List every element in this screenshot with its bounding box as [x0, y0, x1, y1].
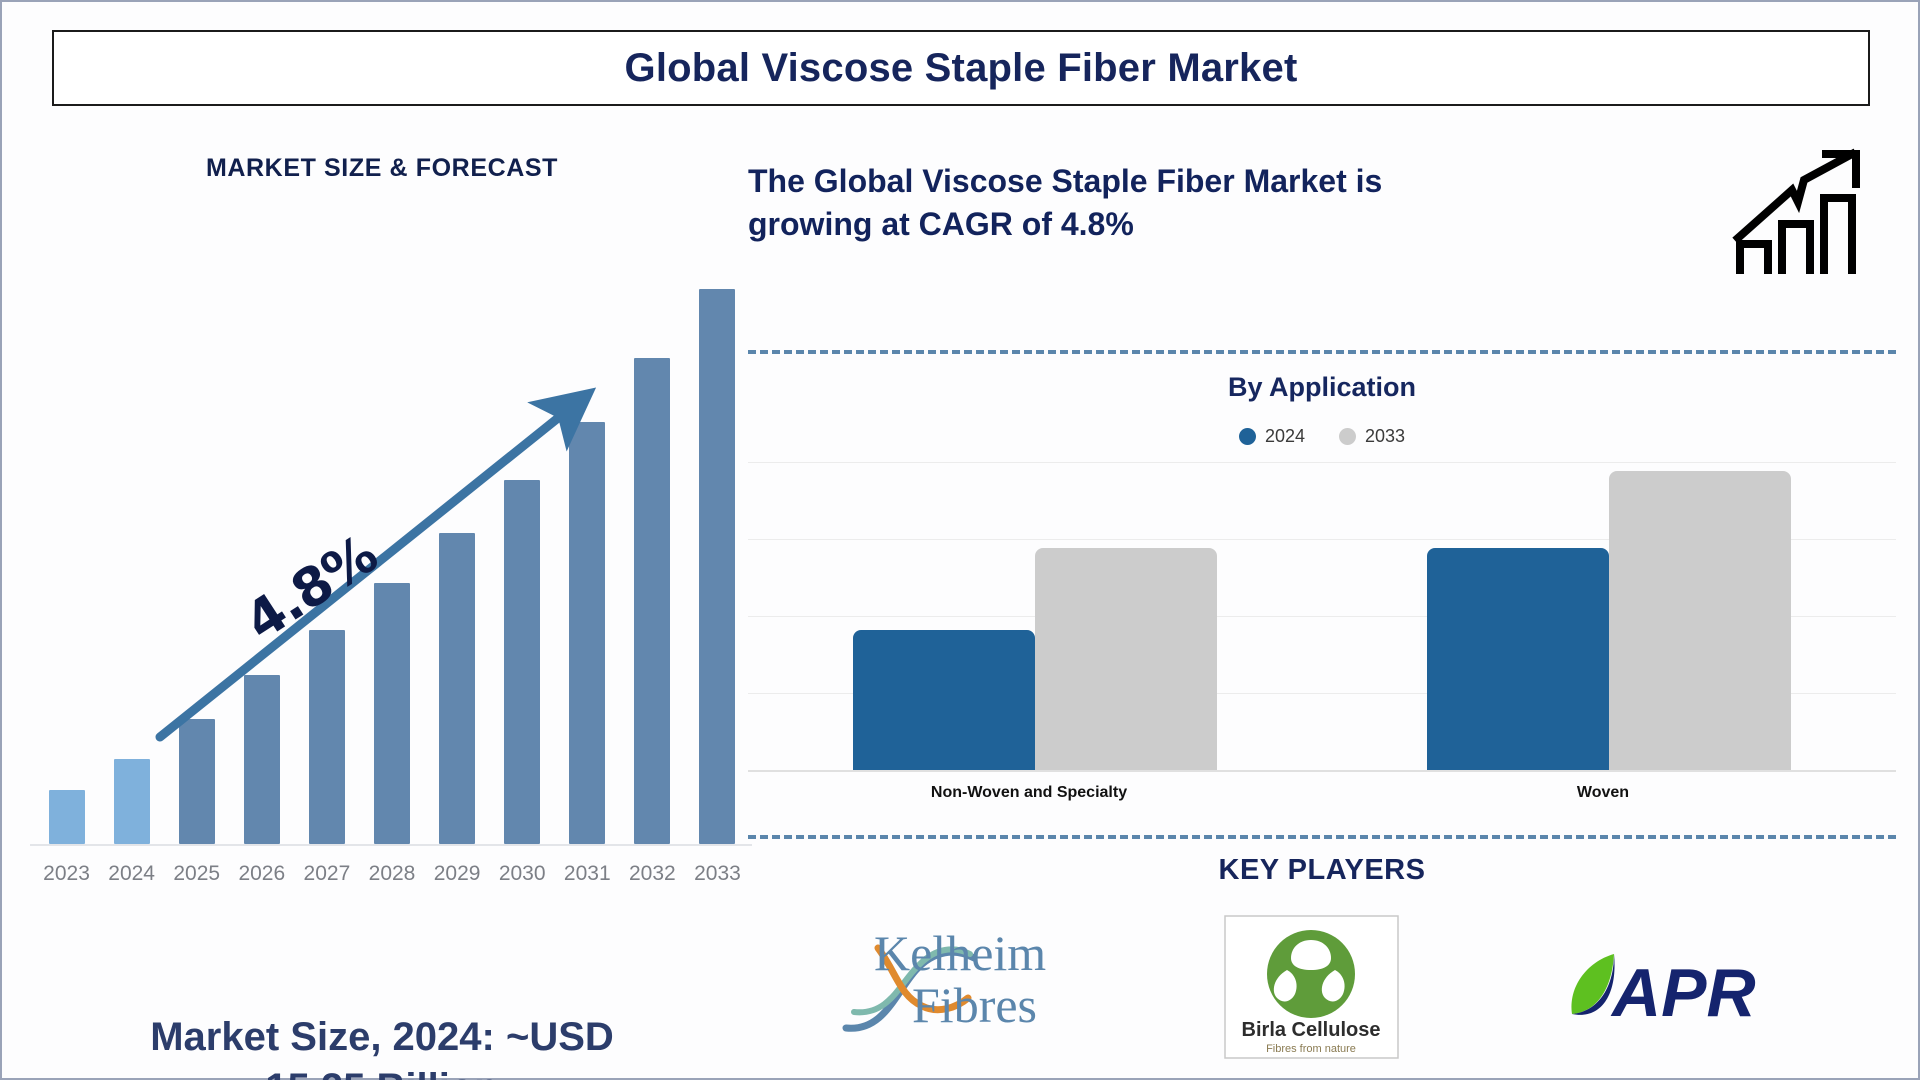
year-label-2026: 2026 [233, 862, 291, 886]
forecast-bar-2033 [699, 289, 735, 844]
forecast-bar-2030 [504, 480, 540, 844]
year-label-2027: 2027 [298, 862, 356, 886]
legend-item-2024[interactable]: 2024 [1239, 426, 1305, 447]
divider-top [748, 350, 1896, 354]
year-label-2031: 2031 [558, 862, 616, 886]
svg-text:Fibres: Fibres [912, 977, 1037, 1033]
year-label-2023: 2023 [38, 862, 96, 886]
year-label-2025: 2025 [168, 862, 226, 886]
bar-rect [244, 675, 280, 844]
divider-bottom [748, 835, 1896, 839]
app-bar-2033-woven [1609, 471, 1791, 770]
bar-rect [504, 480, 540, 844]
bar-rect [114, 759, 150, 844]
market-size-footer: Market Size, 2024: ~USD 15.25 Billion [12, 1012, 752, 1080]
by-application-legend: 20242033 [742, 426, 1902, 447]
forecast-bar-2026 [244, 675, 280, 844]
legend-dot-icon [1239, 428, 1256, 445]
market-size-footer-line1: Market Size, 2024: ~USD [12, 1012, 752, 1063]
bar-rect [179, 719, 215, 844]
forecast-bar-2031 [569, 422, 605, 844]
market-size-forecast-chart: 4.8% 20232024202520262027202820292030203… [20, 232, 750, 932]
forecast-bar-2024 [114, 759, 150, 844]
gridline [748, 462, 1896, 463]
birla-cellulose-logo: Birla Cellulose Fibres from nature [1219, 912, 1404, 1062]
key-players-title: KEY PLAYERS [742, 854, 1902, 887]
year-label-2030: 2030 [493, 862, 551, 886]
forecast-bars-area [34, 274, 750, 844]
svg-text:APR: APR [1610, 955, 1756, 1031]
bar-rect [569, 422, 605, 844]
forecast-bar-2023 [49, 790, 85, 844]
year-label-2029: 2029 [428, 862, 486, 886]
page-title: Global Viscose Staple Fiber Market [625, 46, 1298, 91]
kelheim-fibres-logo: Kelheim Fibres [838, 912, 1068, 1062]
forecast-bar-2028 [374, 583, 410, 844]
app-bar-2033-non-woven-and-specialty [1035, 548, 1217, 770]
market-size-panel: MARKET SIZE & FORECAST 4.8% 202320242025… [12, 132, 752, 1062]
svg-text:Kelheim: Kelheim [874, 925, 1046, 981]
app-bar-2024-woven [1427, 548, 1609, 770]
app-category-label: Woven [1316, 784, 1890, 802]
infographic-page: Global Viscose Staple Fiber Market MARKE… [0, 0, 1920, 1080]
bar-rect [699, 289, 735, 844]
bar-rect [374, 583, 410, 844]
forecast-bar-2025 [179, 719, 215, 844]
app-bar-2024-non-woven-and-specialty [853, 630, 1035, 770]
legend-label: 2024 [1265, 426, 1305, 447]
svg-text:Birla Cellulose: Birla Cellulose [1242, 1019, 1381, 1041]
by-application-baseline [748, 770, 1896, 772]
legend-label: 2033 [1365, 426, 1405, 447]
cagr-statement: The Global Viscose Staple Fiber Market i… [748, 160, 1668, 246]
cagr-statement-line2: growing at CAGR of 4.8% [748, 203, 1668, 246]
by-application-title: By Application [742, 372, 1902, 403]
bar-rect [309, 630, 345, 844]
bar-rect [439, 533, 475, 844]
year-label-2028: 2028 [363, 862, 421, 886]
page-title-box: Global Viscose Staple Fiber Market [52, 30, 1870, 106]
forecast-bar-2029 [439, 533, 475, 844]
forecast-bar-2027 [309, 630, 345, 844]
year-label-2033: 2033 [688, 862, 746, 886]
apr-logo: APR [1556, 912, 1816, 1062]
legend-item-2033[interactable]: 2033 [1339, 426, 1405, 447]
legend-dot-icon [1339, 428, 1356, 445]
market-size-heading: MARKET SIZE & FORECAST [12, 154, 752, 183]
chart-axis-line [30, 844, 752, 846]
cagr-statement-line1: The Global Viscose Staple Fiber Market i… [748, 160, 1668, 203]
by-application-chart [748, 462, 1896, 772]
bar-rect [634, 358, 670, 844]
key-players-logos: Kelheim Fibres Birla Cellulose Fibres fr… [762, 912, 1892, 1062]
growth-bar-chart-arrow-icon [1730, 146, 1870, 281]
year-label-2032: 2032 [623, 862, 681, 886]
app-category-label: Non-Woven and Specialty [742, 784, 1316, 802]
svg-text:Fibres from nature: Fibres from nature [1267, 1043, 1357, 1055]
forecast-bar-2032 [634, 358, 670, 844]
bar-rect [49, 790, 85, 844]
year-label-2024: 2024 [103, 862, 161, 886]
market-size-footer-line2: 15.25 Billion [12, 1063, 752, 1080]
right-panel: The Global Viscose Staple Fiber Market i… [742, 132, 1912, 1072]
forecast-year-axis: 2023202420252026202720282029203020312032… [34, 852, 750, 886]
